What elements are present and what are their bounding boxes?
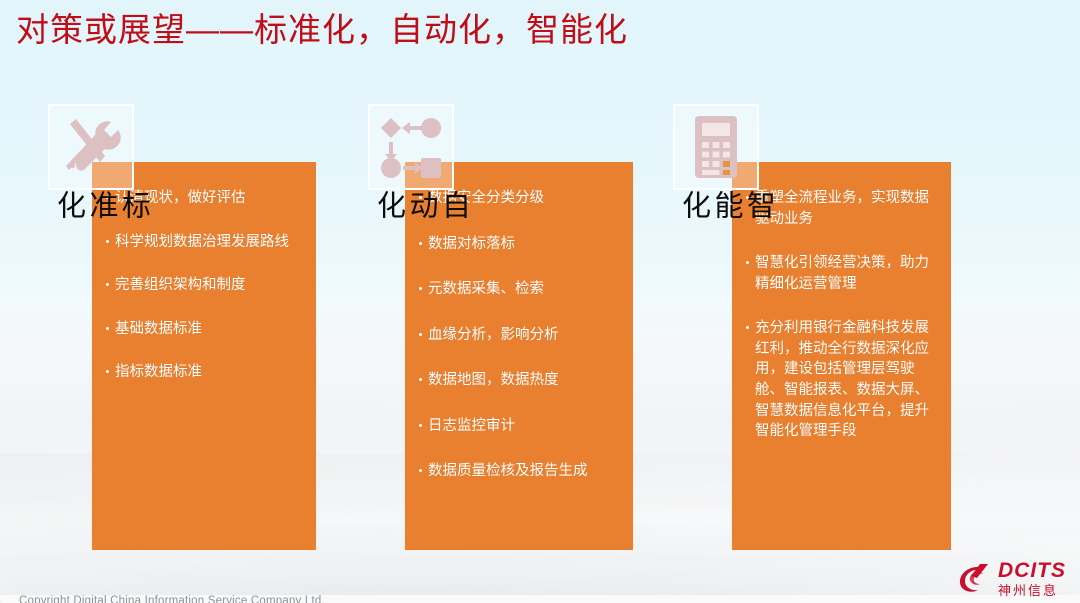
logo-cn-text: 神州信息	[998, 584, 1066, 597]
calculator-icon-box	[673, 104, 759, 190]
column-label-automation: 自动化	[372, 190, 469, 221]
bullet-list-intelligence: 重塑全流程业务，实现数据驱动业务 智慧化引领经营决策，助力精细化运营管理 充分利…	[746, 188, 939, 442]
list-item: 重塑全流程业务，实现数据驱动业务	[746, 188, 939, 229]
list-item: 科学规划数据治理发展路线	[106, 232, 304, 253]
list-item: 智慧化引领经营决策，助力精细化运营管理	[746, 253, 939, 294]
flowchart-icon-box	[368, 104, 454, 190]
dcits-logo-text: DCITS 神州信息	[998, 560, 1066, 597]
list-item: 元数据采集、检索	[419, 279, 621, 300]
slide-title: 对策或展望——标准化，自动化，智能化	[16, 8, 628, 53]
list-item: 日志监控审计	[419, 416, 621, 437]
list-item: 数据质量检核及报告生成	[419, 461, 621, 482]
list-item: 基础数据标准	[106, 319, 304, 340]
column-label-standardization: 标准化	[52, 190, 149, 221]
list-item: 数据地图，数据热度	[419, 370, 621, 391]
list-item: 充分利用银行金融科技发展红利，推动全行数据深化应用，建设包括管理层驾驶舱、智能报…	[746, 318, 939, 441]
calculator-icon	[681, 112, 751, 182]
logo-en-text: DCITS	[998, 560, 1066, 581]
column-label-intelligence: 智能化	[677, 190, 774, 221]
copyright-text: Copyright Digital China Information Serv…	[19, 595, 325, 603]
dcits-logo-mark	[957, 562, 991, 596]
tools-icon	[56, 112, 126, 182]
flowchart-icon	[376, 112, 446, 182]
bullet-list-automation: 数据安全分类分级 数据对标落标 元数据采集、检索 血缘分析，影响分析 数据地图，…	[419, 188, 621, 482]
list-item: 数据对标落标	[419, 234, 621, 255]
list-item: 完善组织架构和制度	[106, 275, 304, 296]
list-item: 血缘分析，影响分析	[419, 325, 621, 346]
dcits-logo: DCITS 神州信息	[957, 560, 1066, 597]
list-item: 指标数据标准	[106, 362, 304, 383]
tools-icon-box	[48, 104, 134, 190]
